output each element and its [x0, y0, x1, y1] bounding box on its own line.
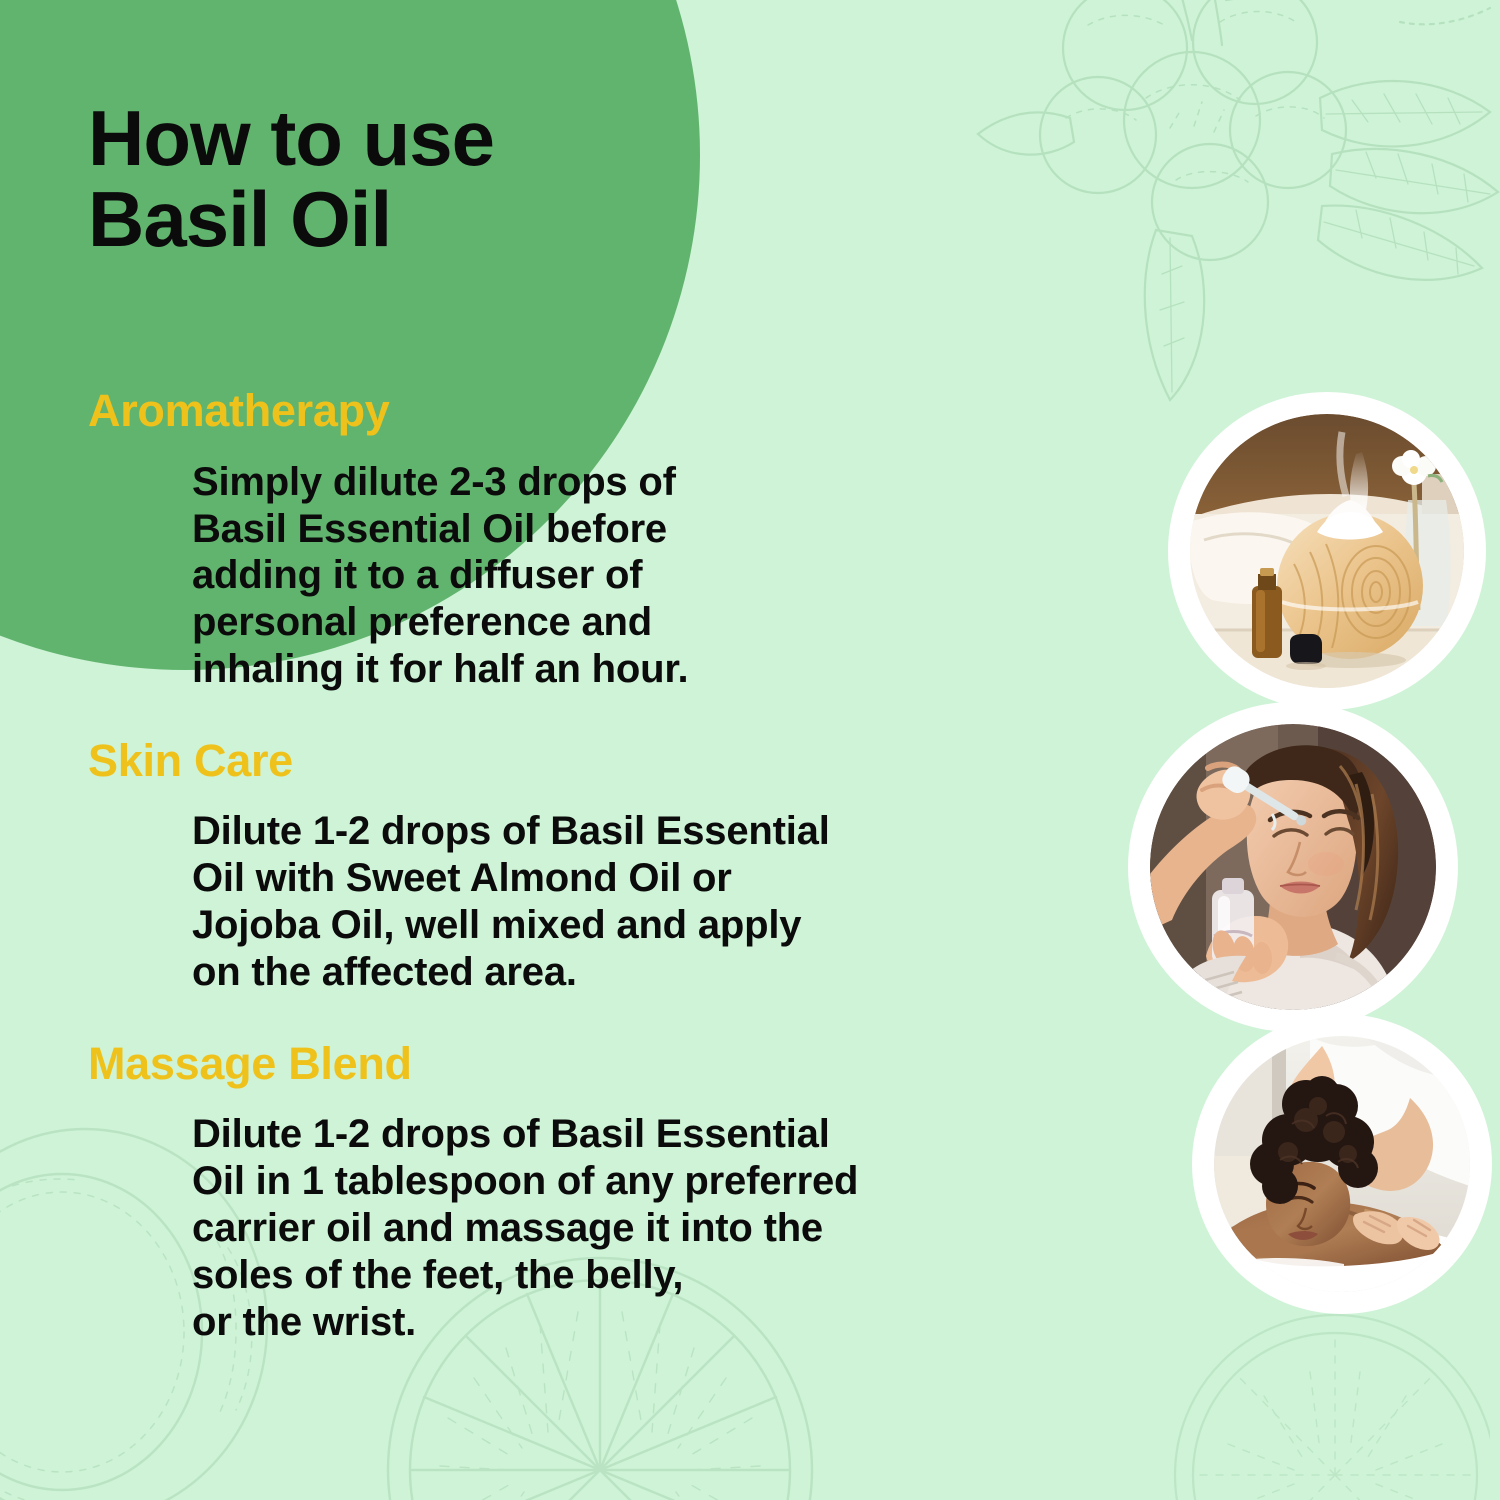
skin-care-serum-photo — [1128, 702, 1458, 1032]
massage-blend-photo-image — [1214, 1036, 1470, 1292]
botanical-fruit-branch-watermark — [970, 0, 1500, 450]
section-body-aromatherapy: Simply dilute 2-3 drops of Basil Essenti… — [192, 459, 1072, 693]
infographic-poster: How to use Basil Oil Aromatherapy Simply… — [0, 0, 1500, 1500]
section-body-skin-care: Dilute 1-2 drops of Basil Essential Oil … — [192, 808, 1072, 995]
aromatherapy-diffuser-photo — [1168, 392, 1486, 710]
section-heading-massage-blend: Massage Blend — [88, 1038, 1120, 1090]
page-title: How to use Basil Oil — [88, 98, 728, 260]
aromatherapy-diffuser-photo-image — [1190, 414, 1464, 688]
usage-sections: Aromatherapy Simply dilute 2-3 drops of … — [0, 385, 1120, 1345]
massage-blend-photo — [1192, 1014, 1492, 1314]
skin-care-serum-photo-image — [1150, 724, 1436, 1010]
section-body-massage-blend: Dilute 1-2 drops of Basil Essential Oil … — [192, 1111, 1072, 1345]
section-heading-skin-care: Skin Care — [88, 735, 1120, 787]
section-aromatherapy: Aromatherapy Simply dilute 2-3 drops of … — [0, 385, 1120, 693]
section-skin-care: Skin Care Dilute 1-2 drops of Basil Esse… — [0, 735, 1120, 996]
section-massage-blend: Massage Blend Dilute 1-2 drops of Basil … — [0, 1038, 1120, 1346]
section-heading-aromatherapy: Aromatherapy — [88, 385, 1120, 437]
